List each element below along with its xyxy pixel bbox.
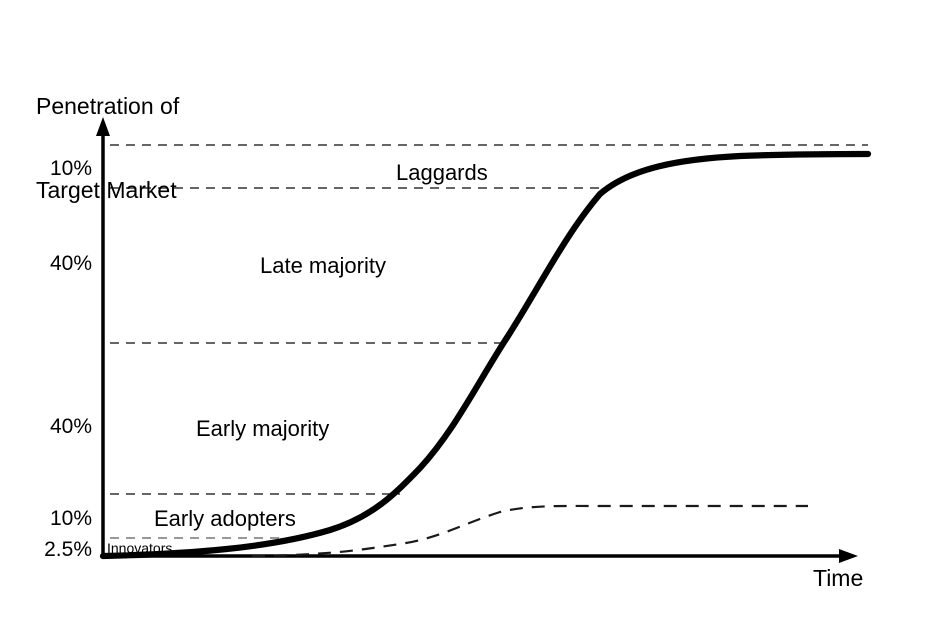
y-tick-label-0: 10% xyxy=(32,157,92,181)
y-tick-label-2: 40% xyxy=(32,415,92,439)
segment-label-innovators: Innovators xyxy=(107,540,172,556)
y-tick-label-4: 2.5% xyxy=(32,538,92,562)
page-title-line1: Penetration of xyxy=(36,92,179,120)
y-tick-label-3: 10% xyxy=(32,507,92,531)
chart-canvas: Penetration of Target Market Time 10% 40… xyxy=(0,0,941,624)
segment-label-late-majority: Late majority xyxy=(260,253,386,279)
x-axis-label: Time xyxy=(813,564,863,592)
y-tick-label-1: 40% xyxy=(32,252,92,276)
page-title: Penetration of Target Market xyxy=(36,36,179,260)
gridlines xyxy=(110,145,868,538)
s-curve xyxy=(103,154,868,556)
segment-label-laggards: Laggards xyxy=(396,160,488,186)
segment-label-early-majority: Early majority xyxy=(196,416,329,442)
segment-label-early-adopters: Early adopters xyxy=(154,506,296,532)
